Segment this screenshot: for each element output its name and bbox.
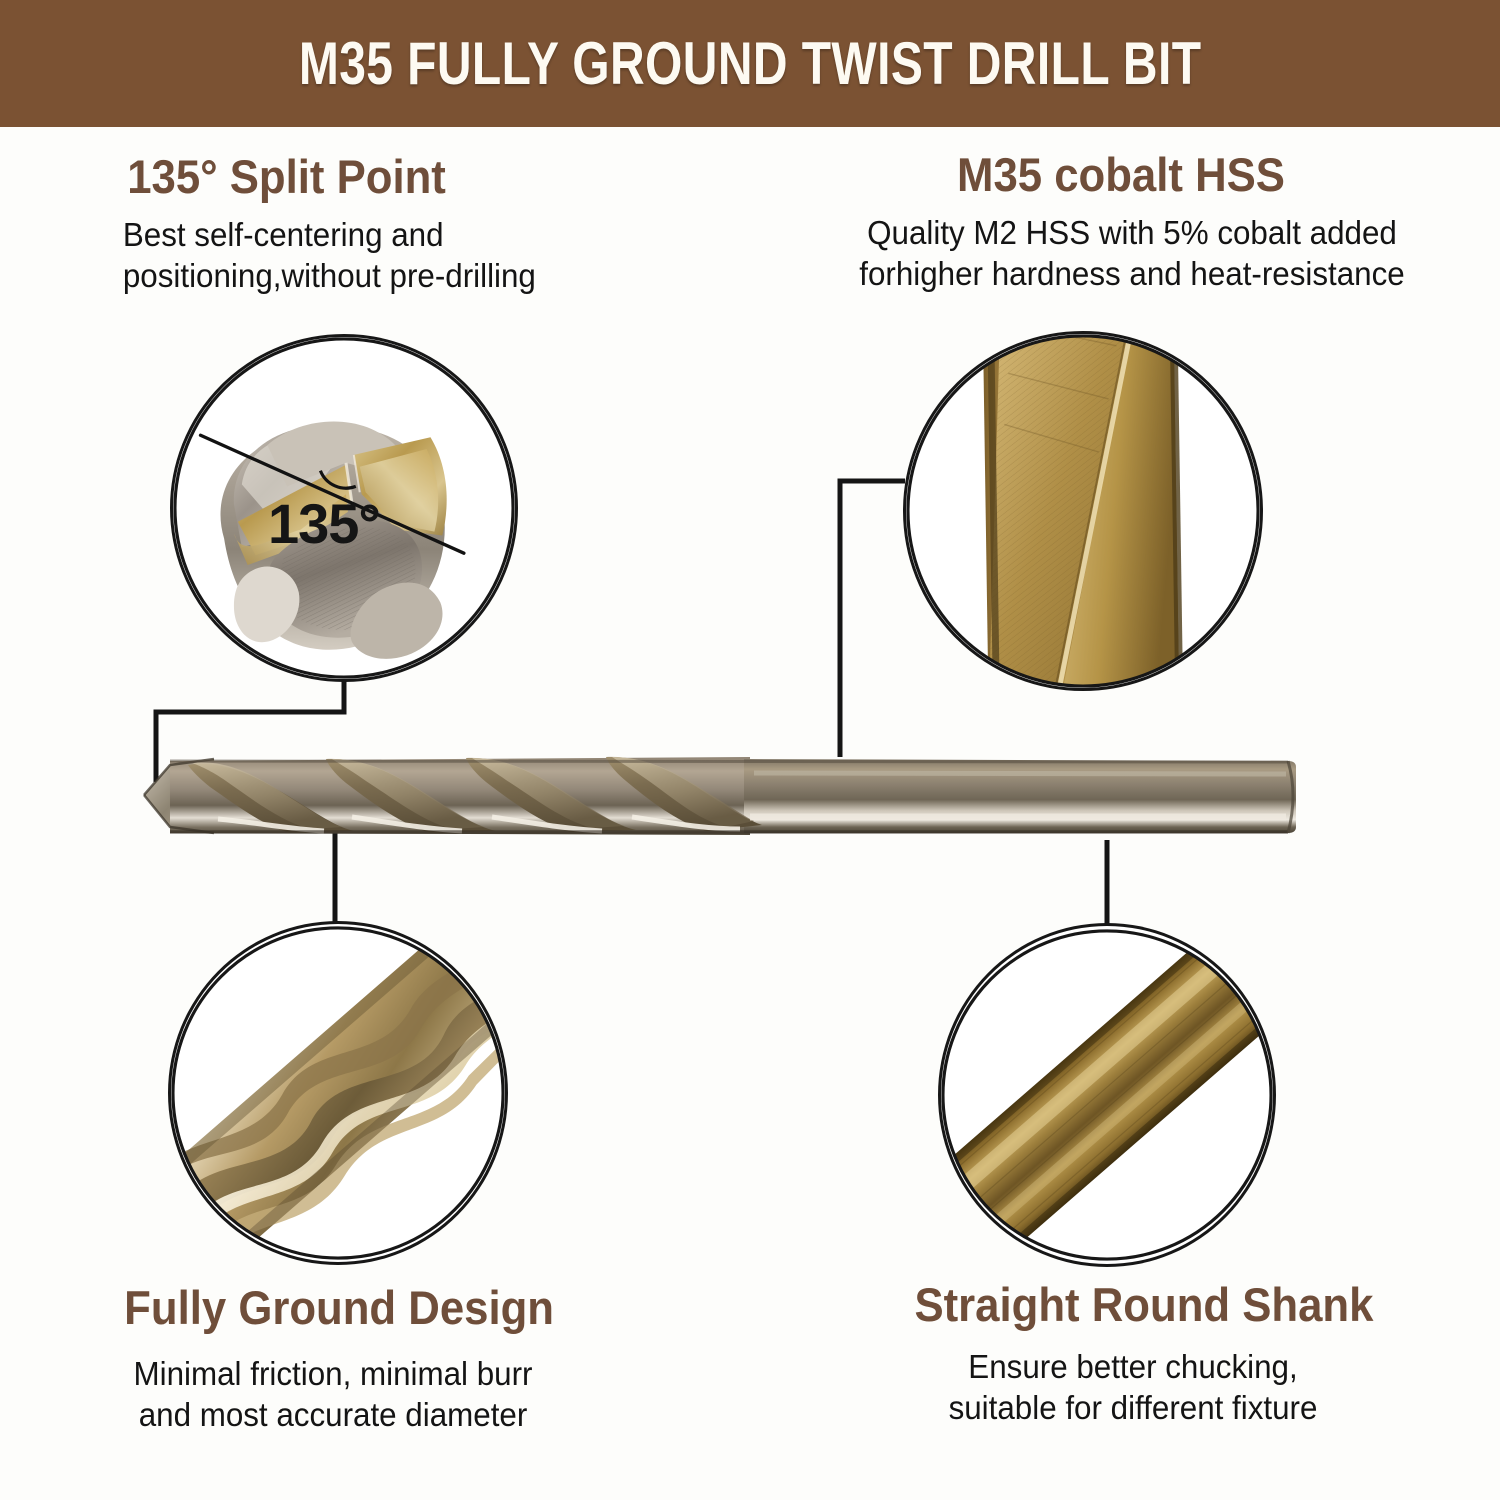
feature-heading-split-point: 135° Split Point (127, 152, 531, 201)
page-title: M35 FULLY GROUND TWIST DRILL BIT (299, 29, 1202, 98)
callout-circle-cobalt (903, 331, 1263, 691)
callout-circle-fully-ground (168, 921, 508, 1265)
callout-circle-straight-shank (938, 923, 1276, 1267)
feature-text-split-point: 135° Split Point Best self-centering and… (112, 152, 547, 296)
feature-body-line: Ensure better chucking, (910, 1347, 1357, 1387)
feature-text-straight-shank: Straight Round Shank Ensure better chuck… (898, 1280, 1368, 1428)
split-point-closeup-image (173, 337, 515, 679)
feature-heading-cobalt: M35 cobalt HSS (852, 150, 1390, 199)
drill-bit-product-image (140, 735, 1300, 855)
cobalt-body-closeup-image (906, 334, 1260, 688)
feature-body-line: forhigher hardness and heat-resistance (847, 254, 1417, 294)
flute-closeup-image (171, 924, 505, 1262)
feature-body-line: suitable for different fixture (910, 1388, 1357, 1428)
twist-drill-bit-illustration (140, 735, 1300, 855)
feature-body-straight-shank: Ensure better chucking, suitable for dif… (910, 1347, 1357, 1428)
feature-body-line: Minimal friction, minimal burr (119, 1354, 547, 1394)
feature-text-fully-ground: Fully Ground Design Minimal friction, mi… (108, 1283, 570, 1435)
feature-text-cobalt: M35 cobalt HSS Quality M2 HSS with 5% co… (832, 150, 1432, 294)
feature-body-line: Best self-centering and (123, 215, 536, 255)
feature-heading-straight-shank: Straight Round Shank (914, 1280, 1351, 1329)
callout-circle-split-point: 135° (170, 334, 518, 682)
feature-heading-fully-ground: Fully Ground Design (124, 1283, 554, 1332)
feature-body-split-point: Best self-centering and positioning,with… (123, 215, 536, 296)
feature-body-line: positioning,without pre-drilling (123, 256, 536, 296)
header-banner: M35 FULLY GROUND TWIST DRILL BIT (0, 0, 1500, 127)
feature-body-cobalt: Quality M2 HSS with 5% cobalt added forh… (847, 213, 1417, 294)
shank-closeup-image (941, 926, 1273, 1264)
feature-body-line: Quality M2 HSS with 5% cobalt added (847, 213, 1417, 253)
feature-body-fully-ground: Minimal friction, minimal burr and most … (119, 1354, 547, 1435)
feature-body-line: and most accurate diameter (119, 1395, 547, 1435)
